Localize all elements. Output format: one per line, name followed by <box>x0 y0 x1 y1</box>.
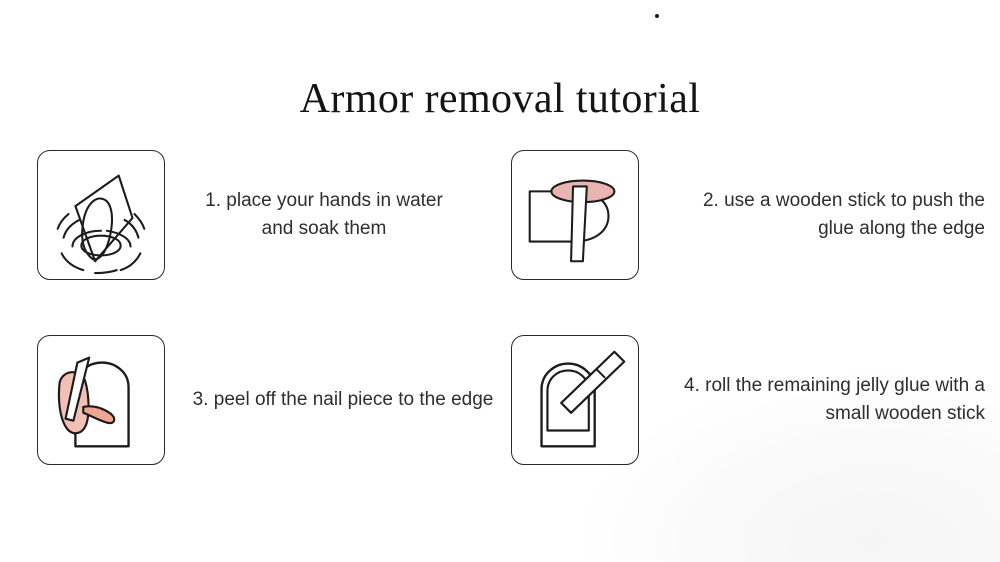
roll-jelly-glue-icon <box>511 335 639 465</box>
peel-off-nail-piece-icon <box>37 335 165 465</box>
top-dot-marker <box>655 14 659 18</box>
step-4-caption-line-1: 4. roll the remaining jelly glue with a <box>657 372 985 400</box>
step-4-caption-line-2: small wooden stick <box>657 400 985 428</box>
tutorial-step-3: 3. peel off the nail piece to the edge <box>37 335 507 465</box>
steps-row-2: 3. peel off the nail piece to the edge 4… <box>0 335 1000 520</box>
tutorial-steps-grid: 1. place your hands in water and soak th… <box>0 150 1000 520</box>
step-1-caption-line-2: and soak them <box>185 215 463 243</box>
nail-soaking-in-water-icon <box>37 150 165 280</box>
page-title: Armor removal tutorial <box>0 76 1000 122</box>
step-3-caption-line-1: 3. peel off the nail piece to the edge <box>183 386 503 414</box>
wooden-stick-push-glue-icon <box>511 150 639 280</box>
tutorial-step-2: 2. use a wooden stick to push the glue a… <box>511 150 991 280</box>
step-2-caption-line-1: 2. use a wooden stick to push the <box>657 187 985 215</box>
tutorial-step-4: 4. roll the remaining jelly glue with a … <box>511 335 991 465</box>
step-2-caption: 2. use a wooden stick to push the glue a… <box>639 187 991 242</box>
step-4-caption: 4. roll the remaining jelly glue with a … <box>639 372 991 427</box>
steps-row-1: 1. place your hands in water and soak th… <box>0 150 1000 335</box>
tutorial-step-1: 1. place your hands in water and soak th… <box>37 150 467 280</box>
step-2-caption-line-2: glue along the edge <box>657 215 985 243</box>
step-1-caption-line-1: 1. place your hands in water <box>185 187 463 215</box>
step-1-caption: 1. place your hands in water and soak th… <box>165 187 467 242</box>
step-3-caption: 3. peel off the nail piece to the edge <box>165 386 507 414</box>
